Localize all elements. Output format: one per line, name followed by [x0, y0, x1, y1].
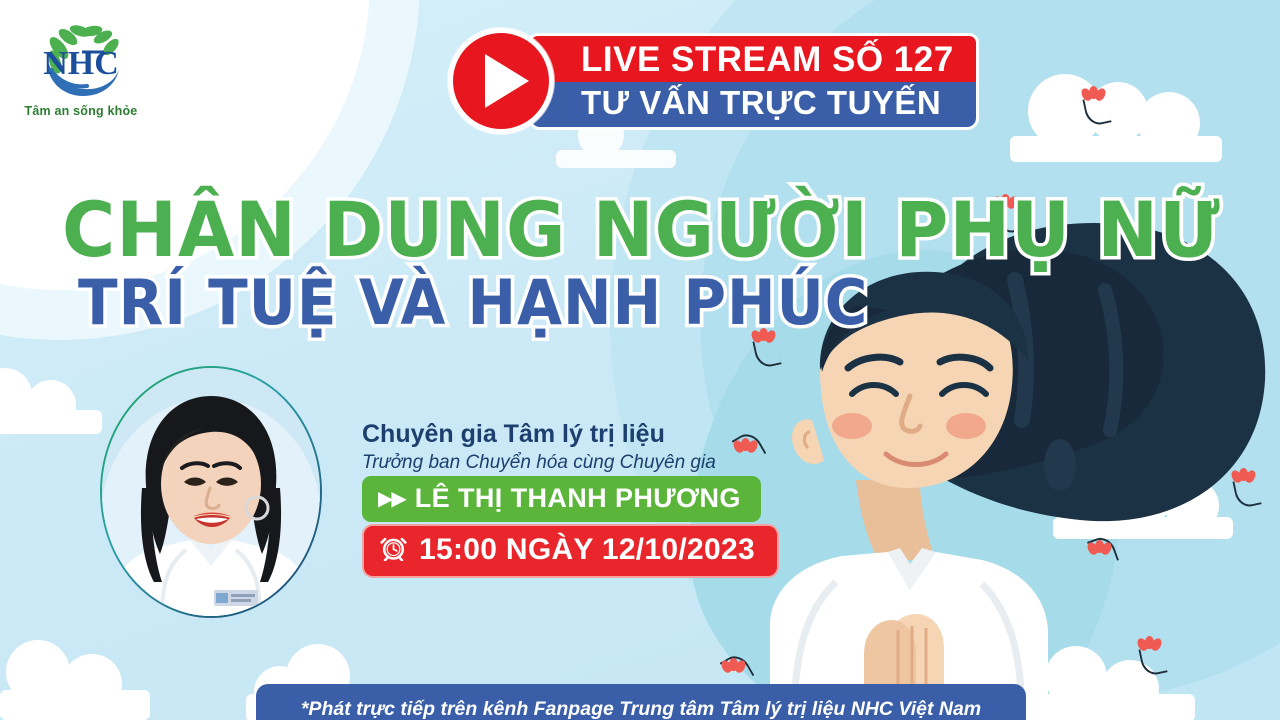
cloud-left-upper [0, 378, 102, 434]
banner-canvas: NHC Tâm an sống khỏe LIVE STREAM SỐ 127 … [0, 0, 1280, 720]
consult-online-label: TƯ VẤN TRỰC TUYẾN [528, 82, 979, 130]
badge-label-stack: LIVE STREAM SỐ 127 TƯ VẤN TRỰC TUYẾN [528, 33, 979, 130]
speaker-portrait-frame [100, 366, 322, 618]
speaker-name-pill: ▶▶ LÊ THỊ THANH PHƯƠNG [362, 476, 761, 522]
speaker-role: Chuyên gia Tâm lý trị liệu [362, 420, 665, 449]
alarm-clock-icon [380, 534, 407, 566]
footer-note-text: *Phát trực tiếp trên kênh Fanpage Trung … [301, 698, 981, 720]
livestream-header-badge: LIVE STREAM SỐ 127 TƯ VẤN TRỰC TUYẾN [448, 28, 979, 134]
cloud-bottom-left [0, 660, 150, 720]
logo-tagline: Tâm an sống khỏe [18, 104, 144, 118]
footer-note-bar: *Phát trực tiếp trên kênh Fanpage Trung … [256, 684, 1026, 720]
live-stream-label: LIVE STREAM SỐ 127 [528, 33, 979, 82]
nhc-logo: NHC Tâm an sống khỏe [18, 18, 144, 118]
cloud-top-center [556, 128, 676, 168]
play-triangle-shape [485, 54, 529, 108]
play-button-icon[interactable] [448, 28, 554, 134]
speaker-department: Trưởng ban Chuyển hóa cùng Chuyên gia [362, 452, 716, 474]
title-line-1: CHÂN DUNG NGƯỜI PHỤ NỮ [62, 192, 1221, 268]
schedule-time-text: 15:00 NGÀY 12/10/2023 [419, 533, 755, 567]
title-line-2: TRÍ TUỆ VÀ HẠNH PHÚC [78, 272, 868, 334]
nhc-leaf-hand-logo-icon: NHC [35, 18, 127, 102]
schedule-badge: 15:00 NGÀY 12/10/2023 [362, 524, 779, 578]
speaker-name: LÊ THỊ THANH PHƯƠNG [415, 483, 741, 514]
double-arrow-icon: ▶▶ [378, 486, 405, 511]
speaker-portrait [102, 368, 320, 616]
svg-text:NHC: NHC [43, 45, 119, 82]
